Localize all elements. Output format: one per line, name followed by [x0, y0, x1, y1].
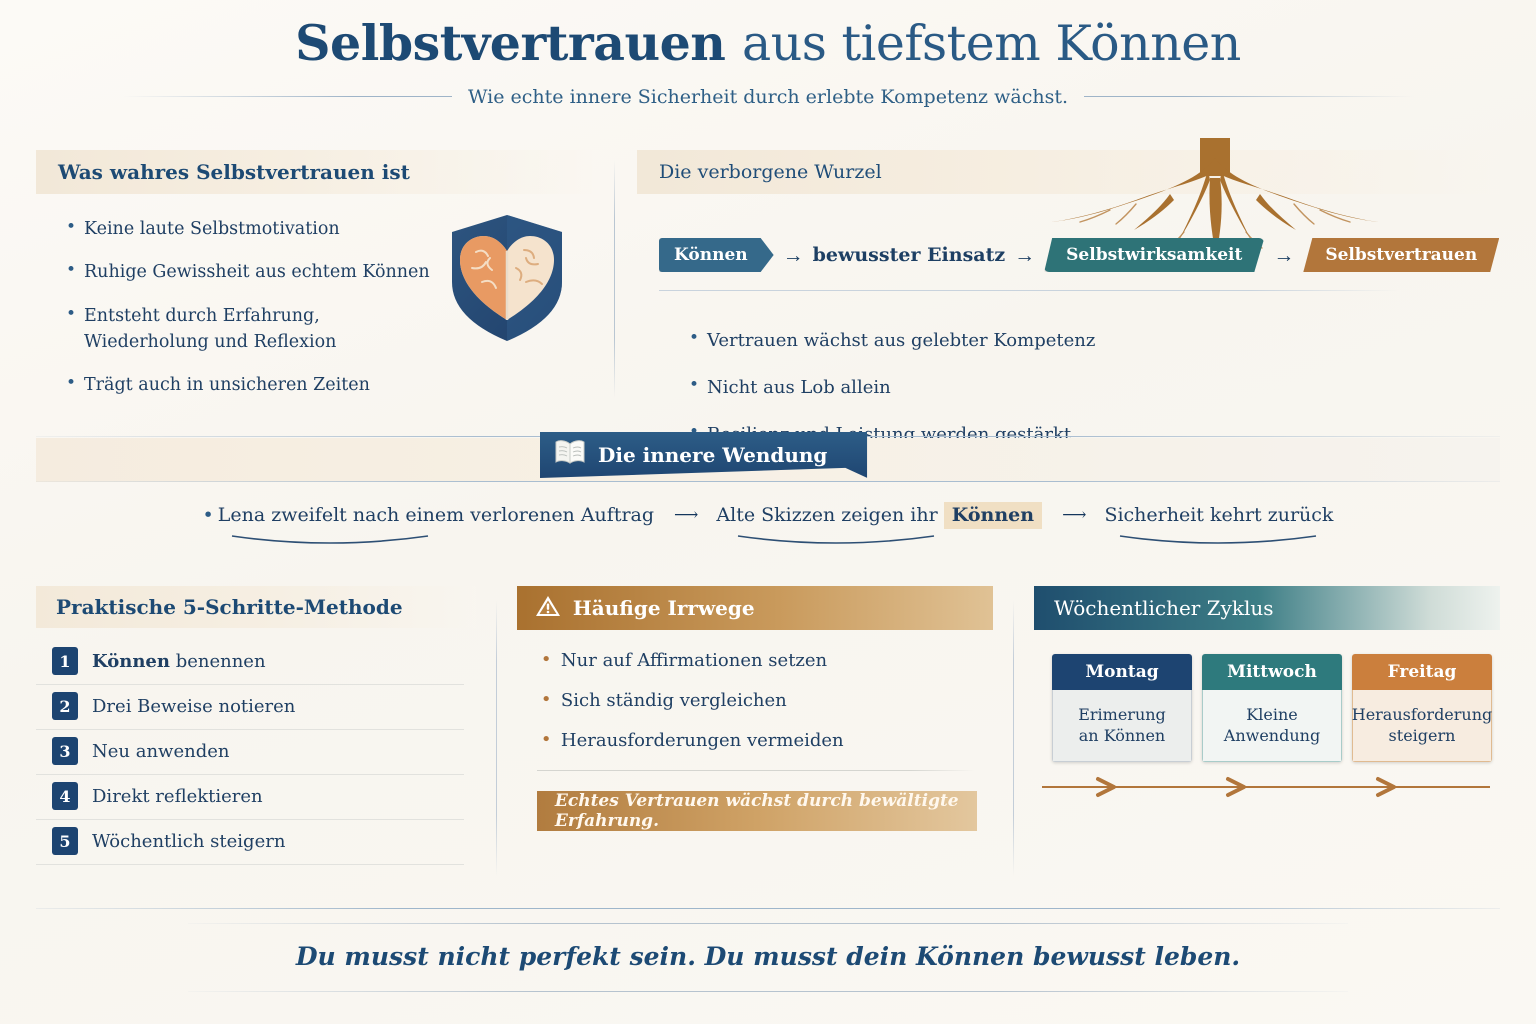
- cycle-card-body: Herausforderung steigern: [1352, 690, 1492, 762]
- story-step-3: Sicherheit kehrt zurück: [1104, 504, 1333, 526]
- column-divider: [614, 160, 615, 398]
- list-item: Sich ständig vergleichen: [541, 690, 993, 711]
- warning-triangle-icon: [535, 594, 561, 623]
- cycle-progress-arrows: [1038, 776, 1500, 803]
- pitfalls-bullets: Nur auf Affirmationen setzen Sich ständi…: [517, 650, 993, 751]
- page-subtitle: Wie echte innere Sicherheit durch erlebt…: [468, 86, 1068, 108]
- ribbon-label: Die innere Wendung: [598, 443, 827, 467]
- subtitle-row: Wie echte innere Sicherheit durch erlebt…: [0, 86, 1536, 108]
- footer-rule-bottom: [188, 991, 1348, 992]
- left-panel: Was wahres Selbstvertrauen ist Keine lau…: [36, 150, 592, 428]
- step-label: Können benennen: [92, 651, 266, 672]
- chain-divider: [659, 290, 1399, 291]
- story-highlight-koennen: Können: [944, 502, 1042, 529]
- infographic-page: Selbstvertrauen aus tiefstem Können Wie …: [0, 0, 1536, 1024]
- chain-arrow-icon: →: [1273, 245, 1294, 266]
- underline-swoosh: [230, 534, 430, 548]
- story-step-2-text: Alte Skizzen zeigen ihr: [716, 504, 943, 526]
- step-number-badge: 5: [52, 827, 78, 855]
- method-panel: Praktische 5-Schritte-Methode 1 Können b…: [36, 586, 476, 896]
- list-item: Vertrauen wächst aus gelebter Kompetenz: [689, 327, 1095, 354]
- footer-quote: Du musst nicht perfekt sein. Du musst de…: [36, 924, 1500, 991]
- subtitle-rule-left: [122, 96, 452, 97]
- cycle-card-line1: Herausforderung: [1352, 705, 1492, 725]
- chain-chip-selbstwirksamkeit: Selbstwirksamkeit: [1044, 238, 1264, 272]
- pitfalls-divider: [537, 770, 975, 771]
- list-item: Nur auf Affirmationen setzen: [541, 650, 993, 671]
- list-item: 2 Drei Beweise notieren: [36, 685, 464, 730]
- story-step-1-text: Lena zweifelt nach einem verlorenen Auft…: [218, 504, 654, 526]
- top-section: Was wahres Selbstvertrauen ist Keine lau…: [36, 150, 1500, 428]
- underline-swoosh: [736, 534, 936, 548]
- step-number-badge: 1: [52, 647, 78, 675]
- band-rule-bottom: [36, 481, 1500, 482]
- cycle-card-list: Montag Erimerung an Können Mittwoch Klei…: [1052, 654, 1500, 762]
- cycle-card-freitag: Freitag Herausforderung steigern: [1352, 654, 1492, 762]
- step-number-badge: 2: [52, 692, 78, 720]
- story-arrow-icon: ⟶: [1062, 505, 1084, 525]
- pitfalls-panel-heading: Häufige Irrwege: [517, 586, 993, 630]
- pitfalls-callout: Echtes Vertrauen wächst durch bewältigte…: [537, 791, 977, 831]
- column-divider: [1013, 600, 1014, 876]
- cycle-card-day: Mittwoch: [1202, 654, 1342, 690]
- list-item: Keine laute Selbstmotivation: [66, 216, 446, 242]
- cycle-card-montag: Montag Erimerung an Können: [1052, 654, 1192, 762]
- story-band: Die innere Wendung •Lena zweifelt nach e…: [36, 432, 1500, 570]
- chain-chip-koennen: Können: [659, 238, 774, 272]
- story-step-2: Alte Skizzen zeigen ihr Können: [716, 504, 1042, 526]
- step-label: Direkt reflektieren: [92, 786, 263, 807]
- concept-chain: Können → bewusster Einsatz → Selbstwirks…: [659, 238, 1499, 272]
- bottom-section: Praktische 5-Schritte-Methode 1 Können b…: [36, 586, 1500, 896]
- open-book-icon: [554, 439, 586, 471]
- column-divider: [496, 600, 497, 876]
- list-item: 3 Neu anwenden: [36, 730, 464, 775]
- bullet-dot-icon: •: [203, 504, 214, 526]
- title-bold-part: Selbstvertrauen: [295, 14, 725, 72]
- footer-rule-top: [36, 908, 1500, 909]
- cycle-card-day: Montag: [1052, 654, 1192, 690]
- left-panel-heading: Was wahres Selbstvertrauen ist: [36, 150, 592, 194]
- cycle-card-line1: Erimerung: [1078, 705, 1166, 725]
- cycle-card-line1: Kleine: [1246, 705, 1297, 725]
- cycle-card-day: Freitag: [1352, 654, 1492, 690]
- step-number-badge: 3: [52, 737, 78, 765]
- list-item: Herausforderungen vermeiden: [541, 730, 993, 751]
- list-item: Ruhige Gewissheit aus echtem Können: [66, 259, 446, 285]
- shield-heart-brain-icon: [446, 212, 568, 349]
- step-label: Wöchentlich steigern: [92, 831, 285, 852]
- step-label-rest: benennen: [170, 651, 266, 672]
- cycle-card-line2: steigern: [1389, 726, 1456, 746]
- cycle-card-line2: Anwendung: [1224, 726, 1320, 746]
- page-title: Selbstvertrauen aus tiefstem Können: [0, 16, 1536, 72]
- story-arrow-icon: ⟶: [674, 505, 696, 525]
- cycle-card-body: Erimerung an Können: [1052, 690, 1192, 762]
- cycle-card-line2: an Können: [1079, 726, 1165, 746]
- list-item: 1 Können benennen: [36, 640, 464, 685]
- right-panel: Die verborgene Wurzel Können → bewusster…: [637, 150, 1500, 428]
- underline-swoosh: [1118, 534, 1318, 548]
- page-header: Selbstvertrauen aus tiefstem Können Wie …: [0, 16, 1536, 108]
- step-label: Drei Beweise notieren: [92, 696, 295, 717]
- cycle-card-body: Kleine Anwendung: [1202, 690, 1342, 762]
- pitfalls-heading-label: Häufige Irrwege: [573, 596, 755, 620]
- list-item: 5 Wöchentlich steigern: [36, 820, 464, 865]
- subtitle-rule-right: [1084, 96, 1414, 97]
- cycle-card-mittwoch: Mittwoch Kleine Anwendung: [1202, 654, 1342, 762]
- list-item: 4 Direkt reflektieren: [36, 775, 464, 820]
- title-light-part: aus tiefstem Können: [742, 15, 1241, 72]
- method-panel-heading: Praktische 5-Schritte-Methode: [36, 586, 476, 628]
- pitfalls-panel: Häufige Irrwege Nur auf Affirmationen se…: [517, 586, 993, 896]
- story-flow: •Lena zweifelt nach einem verlorenen Auf…: [36, 504, 1500, 526]
- chain-text-einsatz: bewusster Einsatz: [813, 244, 1006, 266]
- step-label-bold: Können: [92, 651, 170, 672]
- story-step-1: •Lena zweifelt nach einem verlorenen Auf…: [203, 504, 655, 526]
- page-footer: Du musst nicht perfekt sein. Du musst de…: [36, 908, 1500, 992]
- method-step-list: 1 Können benennen 2 Drei Beweise notiere…: [36, 640, 476, 865]
- cycle-panel: Wöchentlicher Zyklus Montag Erimerung an…: [1034, 586, 1500, 896]
- chain-arrow-icon: →: [1014, 245, 1035, 266]
- step-label: Neu anwenden: [92, 741, 229, 762]
- list-item: Nicht aus Lob allein: [689, 374, 1095, 401]
- chain-arrow-icon: →: [783, 245, 804, 266]
- step-number-badge: 4: [52, 782, 78, 810]
- story-step-3-text: Sicherheit kehrt zurück: [1104, 504, 1333, 526]
- chain-chip-selbstvertrauen: Selbstvertrauen: [1303, 238, 1499, 272]
- cycle-panel-heading: Wöchentlicher Zyklus: [1034, 586, 1500, 630]
- list-item: Trägt auch in unsicheren Zeiten: [66, 372, 446, 398]
- list-item: Entsteht durch Erfahrung, Wiederholung u…: [66, 303, 446, 356]
